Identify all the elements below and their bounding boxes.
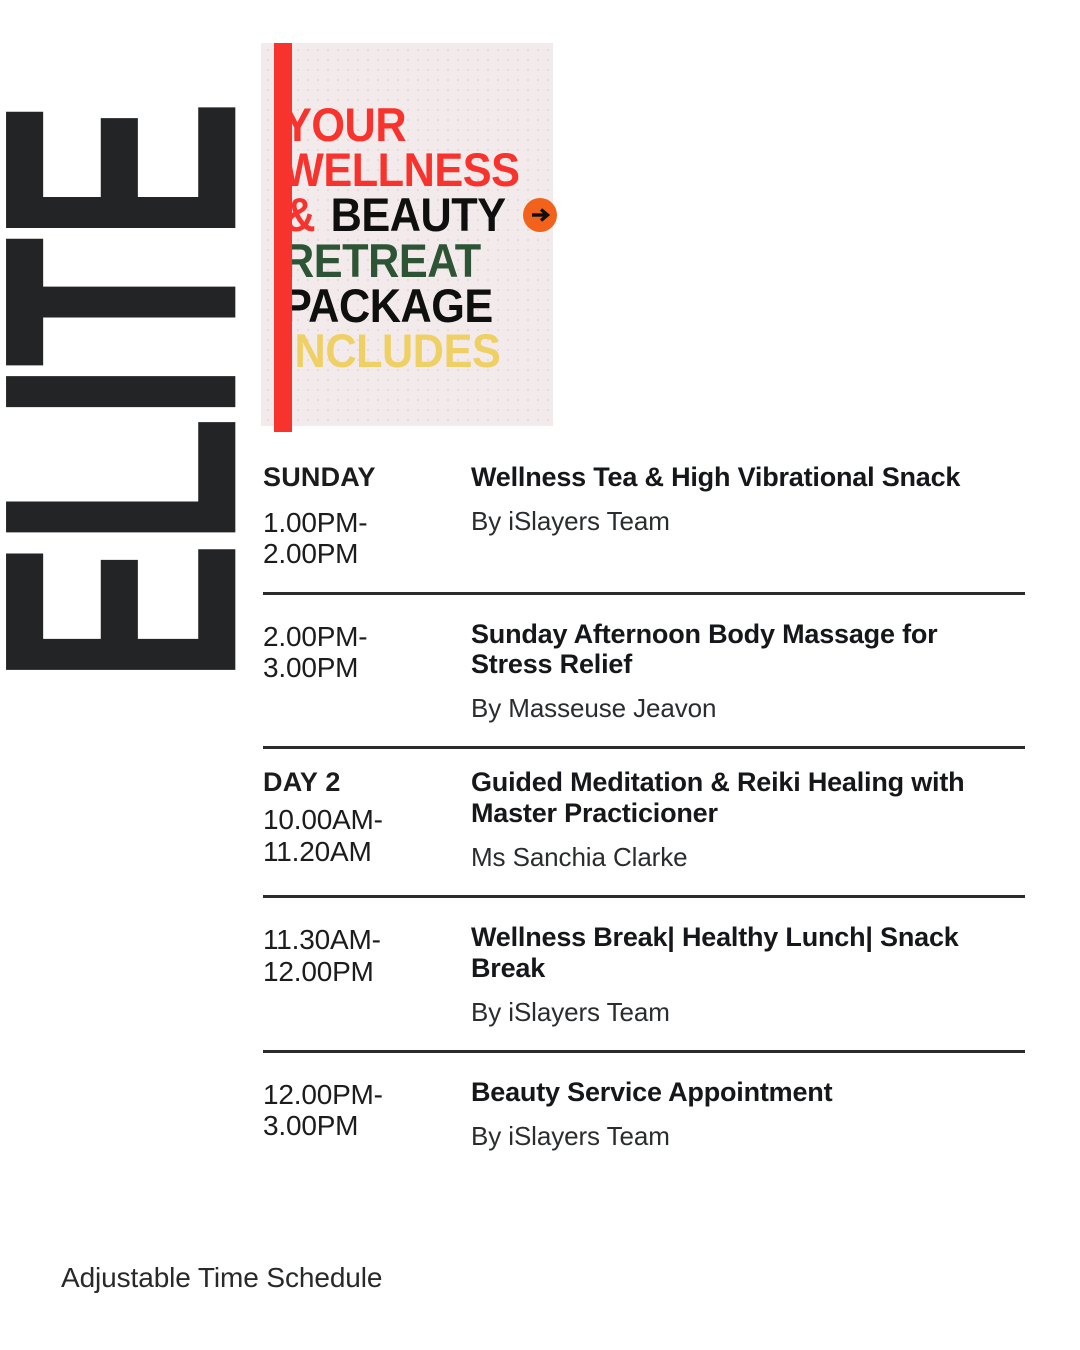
schedule-event-title: Guided Meditation & Reiki Healing with M… [471,767,1025,829]
schedule-detail-column: Wellness Break| Healthy Lunch| Snack Bre… [471,922,1025,1028]
schedule-time-column: 12.00PM- 3.00PM [263,1077,471,1142]
schedule-time: 1.00PM- 2.00PM [263,507,471,570]
schedule-event-title: Beauty Service Appointment [471,1077,1025,1108]
schedule-list: SUNDAY 1.00PM- 2.00PM Wellness Tea & Hig… [263,462,1025,1152]
schedule-day-label: SUNDAY [263,464,471,491]
poster-page: ELITE YOUR WELLNESS & BEAUTY RETREAT PAC… [0,0,1080,1350]
schedule-row: 11.30AM- 12.00PM Wellness Break| Healthy… [263,898,1025,1050]
schedule-event-presenter: By Masseuse Jeavon [471,693,1025,724]
hero-poster-text-block: YOUR WELLNESS & BEAUTY RETREAT PACKAGE I… [283,103,539,426]
schedule-event-title: Wellness Break| Healthy Lunch| Snack Bre… [471,922,1025,984]
schedule-time-column: DAY 2 10.00AM- 11.20AM [263,767,471,867]
schedule-detail-column: Sunday Afternoon Body Massage for Stress… [471,619,1025,725]
schedule-row: DAY 2 10.00AM- 11.20AM Guided Meditation… [263,749,1025,895]
schedule-event-presenter: By iSlayers Team [471,506,1025,537]
poster-line-wellness: WELLNESS [283,148,519,191]
schedule-detail-column: Beauty Service Appointment By iSlayers T… [471,1077,1025,1152]
schedule-event-presenter: By iSlayers Team [471,997,1025,1028]
schedule-event-title: Sunday Afternoon Body Massage for Stress… [471,619,1025,681]
elite-wordmark: ELITE [0,0,250,700]
footer-note: Adjustable Time Schedule [61,1262,382,1294]
schedule-detail-column: Guided Meditation & Reiki Healing with M… [471,767,1025,873]
schedule-time: 11.30AM- 12.00PM [263,924,471,987]
schedule-time-column: 11.30AM- 12.00PM [263,922,471,987]
schedule-event-presenter: Ms Sanchia Clarke [471,842,1025,873]
poster-line-includes: INCLUDES [283,329,519,372]
schedule-row: 2.00PM- 3.00PM Sunday Afternoon Body Mas… [263,595,1025,747]
poster-line-your: YOUR [283,103,519,146]
schedule-row: SUNDAY 1.00PM- 2.00PM Wellness Tea & Hig… [263,462,1025,592]
poster-accent-bar [274,43,292,432]
schedule-time: 2.00PM- 3.00PM [263,621,471,684]
arrow-right-icon [523,198,557,232]
schedule-time: 12.00PM- 3.00PM [263,1079,471,1142]
poster-line-beauty-row: & BEAUTY [283,193,539,236]
schedule-event-presenter: By iSlayers Team [471,1121,1025,1152]
schedule-time-column: SUNDAY 1.00PM- 2.00PM [263,462,471,570]
schedule-row: 12.00PM- 3.00PM Beauty Service Appointme… [263,1053,1025,1152]
poster-line-package: PACKAGE [283,284,519,327]
hero-poster: YOUR WELLNESS & BEAUTY RETREAT PACKAGE I… [261,43,553,426]
schedule-day-label: DAY 2 [263,769,471,796]
schedule-event-title: Wellness Tea & High Vibrational Snack [471,462,1025,493]
elite-wordmark-text: ELITE [0,85,267,705]
schedule-detail-column: Wellness Tea & High Vibrational Snack By… [471,462,1025,537]
poster-line-beauty: BEAUTY [331,193,506,236]
schedule-time: 10.00AM- 11.20AM [263,804,471,867]
poster-line-retreat: RETREAT [283,239,519,282]
schedule-time-column: 2.00PM- 3.00PM [263,619,471,684]
